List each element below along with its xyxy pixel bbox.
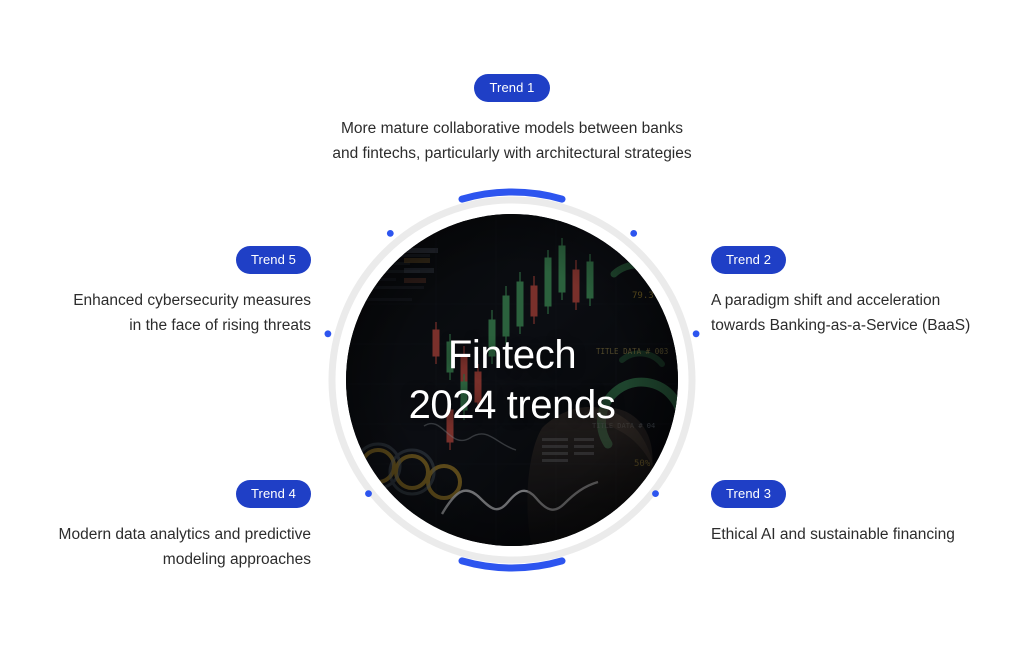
trend-badge-4[interactable]: Trend 4 xyxy=(236,480,311,508)
trend-text-3: Ethical AI and sustainable financing xyxy=(711,522,1011,547)
trend-badge-1[interactable]: Trend 1 xyxy=(474,74,549,102)
trend-block-2: Trend 2 A paradigm shift and acceleratio… xyxy=(711,246,1011,338)
ring-dot-right xyxy=(693,330,700,337)
trend-text-1: More mature collaborative models between… xyxy=(324,116,700,166)
trend-block-5: Trend 5 Enhanced cybersecurity measures … xyxy=(14,246,311,338)
trend-text-5: Enhanced cybersecurity measures in the f… xyxy=(14,288,311,338)
ring-dot-upper-left xyxy=(387,230,394,237)
trend-badge-5[interactable]: Trend 5 xyxy=(236,246,311,274)
trend-badge-3[interactable]: Trend 3 xyxy=(711,480,786,508)
trend-badge-2[interactable]: Trend 2 xyxy=(711,246,786,274)
trend-text-4: Modern data analytics and predictive mod… xyxy=(14,522,311,572)
infographic-canvas: 79.3 50% TITLE DATA # 003 TITLE DATA # 0… xyxy=(0,0,1024,661)
center-hub: 79.3 50% TITLE DATA # 003 TITLE DATA # 0… xyxy=(322,190,702,570)
ring-dot-upper-right xyxy=(630,230,637,237)
trend-block-1: Trend 1 More mature collaborative models… xyxy=(324,74,700,166)
trend-block-3: Trend 3 Ethical AI and sustainable finan… xyxy=(711,480,1011,547)
hub-ring xyxy=(322,190,702,570)
trend-block-4: Trend 4 Modern data analytics and predic… xyxy=(14,480,311,572)
ring-dot-left xyxy=(325,330,332,337)
trend-text-2: A paradigm shift and acceleration toward… xyxy=(711,288,1011,338)
ring-dot-lower-right xyxy=(652,490,659,497)
ring-track xyxy=(332,200,692,560)
ring-dot-lower-left xyxy=(365,490,372,497)
